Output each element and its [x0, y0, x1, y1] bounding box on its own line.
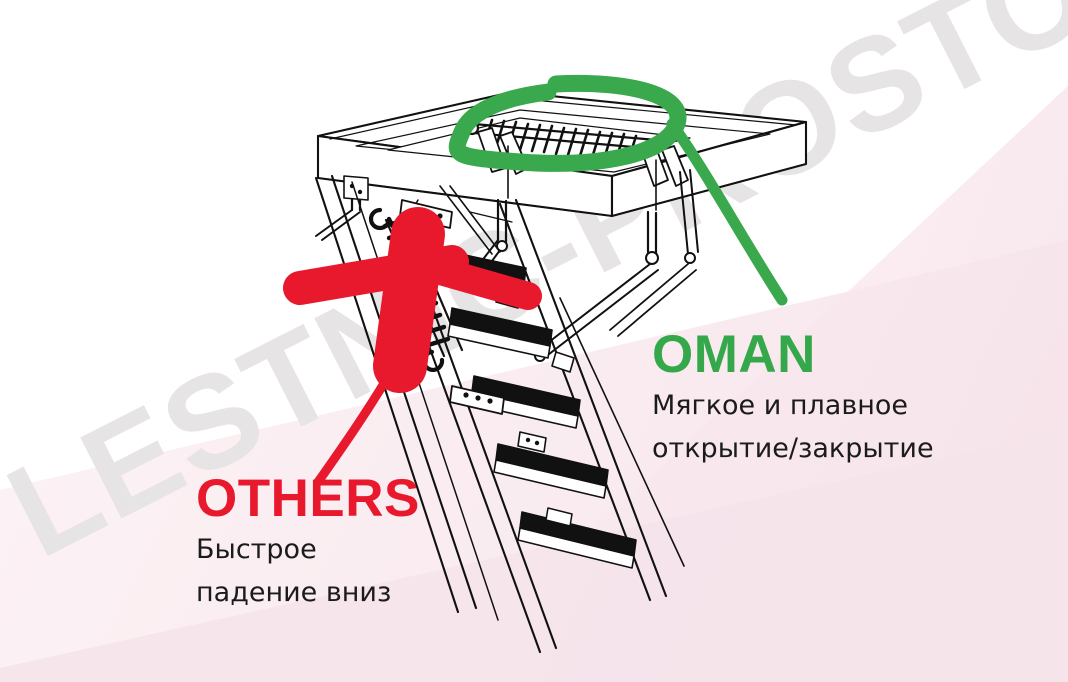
illustration-canvas: LESTNIC-PROSTO.RU — [0, 0, 1068, 682]
annotation-marks — [0, 0, 1068, 682]
red-cross-mark — [300, 234, 528, 482]
green-circle-highlight — [457, 83, 782, 300]
